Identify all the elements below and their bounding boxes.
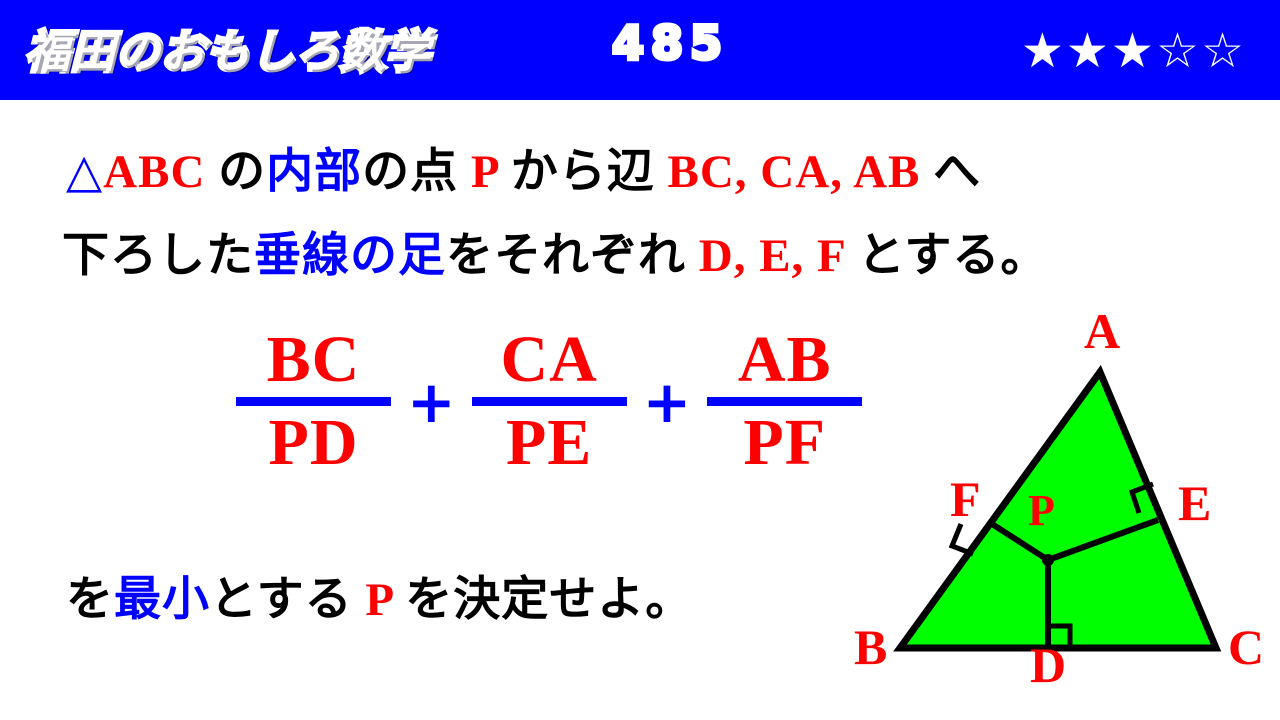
text-segment: 垂線の足 [254,230,446,282]
foot-label-d: D [1030,640,1066,690]
text-segment: 内部 [266,146,362,198]
episode-number: 485 [612,16,729,70]
fraction-denominator: PD [269,408,359,478]
vertex-label-c: C [1228,622,1264,672]
fraction-term-1: BC PD [236,325,391,478]
plus-operator: + [639,373,696,431]
header-bar: 福田のおもしろ数学 485 ★ ★ ★ ☆ ☆ [0,0,1280,100]
fraction-term-3: AB PF [707,325,862,478]
text-segment: ABC [103,146,205,198]
text-segment: とする。 [845,230,1048,282]
fraction-denominator: PE [506,408,592,478]
text-segment: とする [210,574,365,626]
text-segment: P [471,146,498,198]
fraction-numerator: BC [267,325,361,395]
triangle-abc-shape [900,372,1216,648]
text-segment: へ [920,146,981,198]
brand-title: 福田のおもしろ数学 [26,16,431,80]
fraction-bar [472,397,627,406]
plus-operator: + [403,373,460,431]
problem-line-1: △ABC の内部の点 P から辺 BC, CA, AB へ [66,132,981,201]
fraction-numerator: AB [738,325,832,395]
text-segment: BC, CA, AB [668,146,921,198]
triangle-diagram: A B C D E F P [840,300,1280,720]
star-filled-icon: ★ [1021,27,1064,75]
difficulty-stars: ★ ★ ★ ☆ ☆ [1021,27,1244,75]
fraction-numerator: CA [500,325,597,395]
expression-to-minimize: BC PD + CA PE + AB PF [236,325,862,478]
fraction-term-2: CA PE [472,325,627,478]
text-segment: から辺 [498,146,668,198]
text-segment: の点 [362,146,471,198]
star-empty-icon: ☆ [1201,27,1244,75]
foot-label-e: E [1178,478,1211,528]
text-segment: D, E, F [699,230,845,282]
text-segment: △ [66,146,103,198]
text-segment: をそれぞれ [446,230,699,282]
text-segment: を [66,574,114,626]
text-segment: P [365,574,392,626]
problem-line-3: を最小とする P を決定せよ。 [66,560,693,629]
fraction-bar [707,397,862,406]
text-segment: を決定せよ。 [392,574,693,626]
fraction-bar [236,397,391,406]
point-p-marker [1042,554,1054,566]
vertex-label-b: B [854,622,887,672]
star-filled-icon: ★ [1111,27,1154,75]
text-segment: 最小 [114,574,210,626]
foot-label-f: F [950,474,981,524]
fraction-denominator: PF [743,408,826,478]
problem-line-2: 下ろした垂線の足をそれぞれ D, E, F とする。 [62,216,1048,285]
star-filled-icon: ★ [1066,27,1109,75]
vertex-label-a: A [1084,306,1120,356]
point-label-p: P [1028,486,1055,536]
text-segment: 下ろした [62,230,254,282]
text-segment: の [205,146,266,198]
star-empty-icon: ☆ [1156,27,1199,75]
